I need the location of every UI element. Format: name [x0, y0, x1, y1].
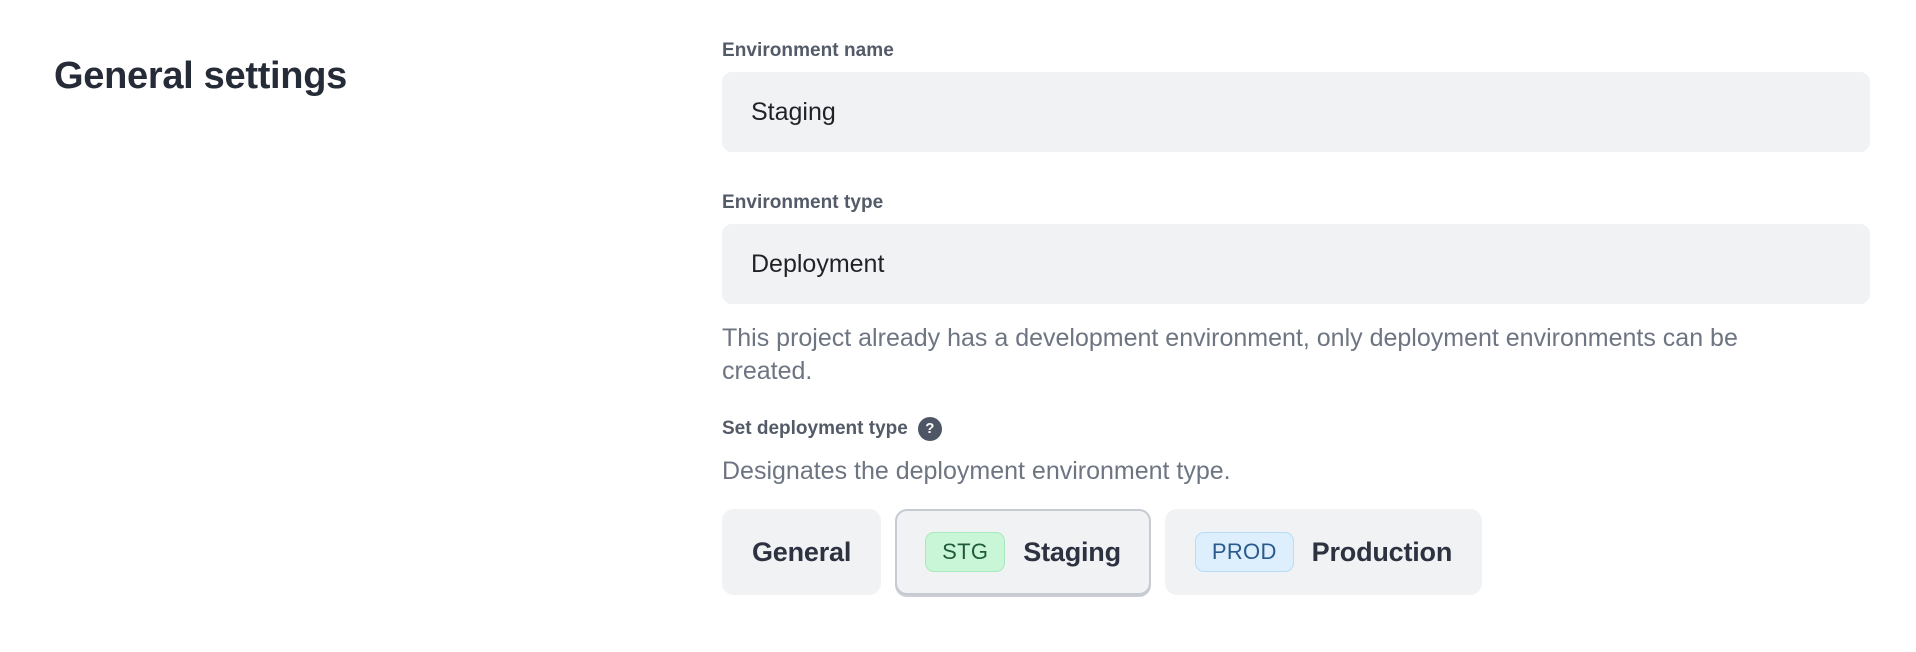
deployment-type-option-staging[interactable]: STG Staging [895, 509, 1151, 595]
environment-name-label: Environment name [722, 40, 1870, 62]
environment-type-field: Environment type This project already ha… [722, 192, 1870, 389]
page-title: General settings [54, 53, 347, 101]
deployment-type-option-production-label: Production [1312, 537, 1453, 568]
deployment-type-option-production[interactable]: PROD Production [1165, 509, 1482, 595]
question-mark-icon[interactable]: ? [918, 417, 942, 441]
deployment-type-option-staging-label: Staging [1023, 537, 1121, 568]
environment-name-input[interactable] [722, 72, 1870, 152]
field-spacer [722, 152, 1870, 192]
deployment-type-option-general[interactable]: General [722, 509, 881, 595]
general-settings-page: General settings Environment name Enviro… [0, 0, 1916, 652]
environment-type-input[interactable] [722, 224, 1870, 304]
deployment-type-label: Set deployment type [722, 418, 908, 440]
deployment-type-label-row: Set deployment type ? [722, 417, 1870, 441]
settings-form: Environment name Environment type This p… [722, 40, 1870, 595]
prod-badge: PROD [1195, 532, 1294, 572]
deployment-type-description: Designates the deployment environment ty… [722, 455, 1870, 488]
environment-type-help-text: This project already has a development e… [722, 322, 1822, 389]
deployment-type-segmented-control: General STG Staging PROD Production [722, 509, 1870, 595]
deployment-type-option-general-label: General [752, 537, 851, 568]
environment-type-label: Environment type [722, 192, 1870, 214]
deployment-type-field: Set deployment type ? Designates the dep… [722, 417, 1870, 596]
environment-name-field: Environment name [722, 40, 1870, 152]
stg-badge: STG [925, 532, 1005, 572]
